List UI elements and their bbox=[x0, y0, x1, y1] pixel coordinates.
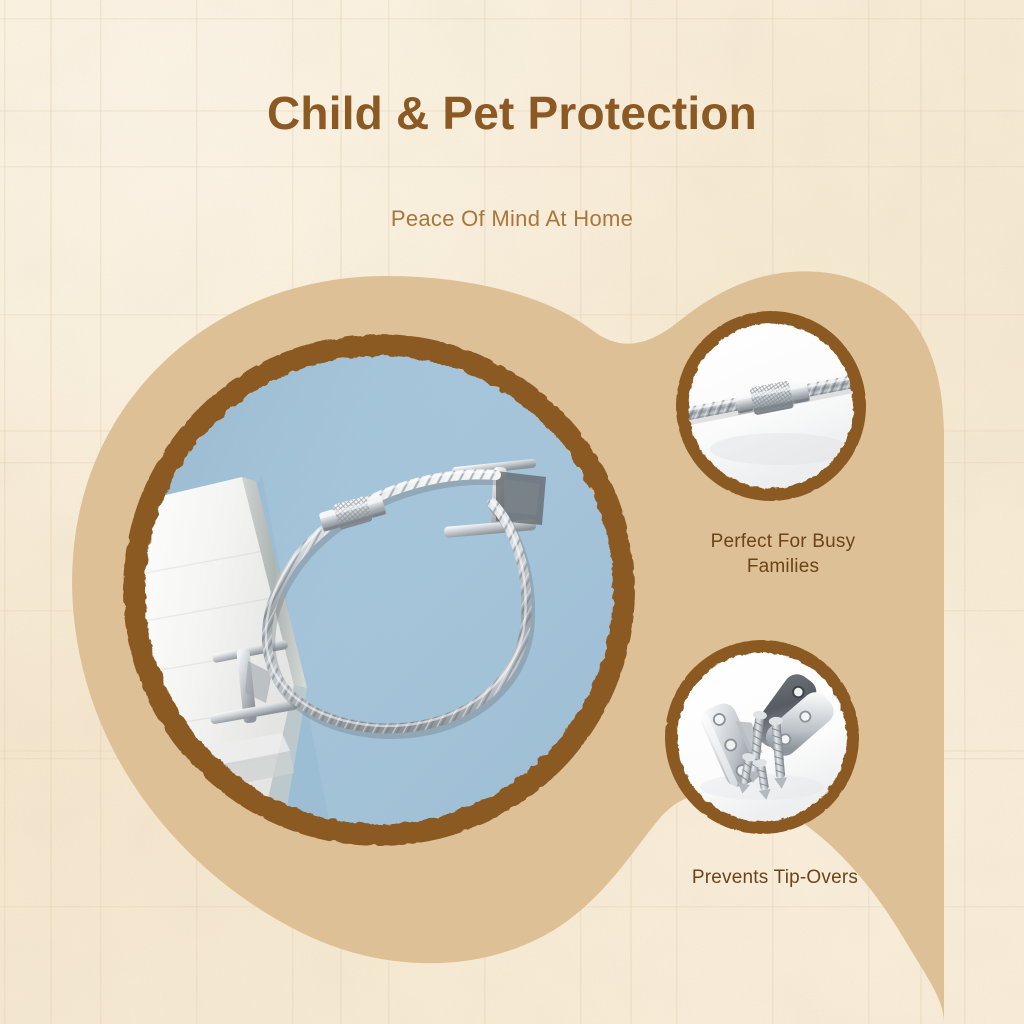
caption-line: Families bbox=[640, 554, 926, 579]
caption-line: Perfect For Busy bbox=[640, 529, 926, 554]
main-product-photo bbox=[144, 355, 614, 825]
cable-connector-photo bbox=[688, 323, 854, 489]
caption-prevents-tip-overs: Prevents Tip-Overs bbox=[625, 865, 925, 890]
mounting-hardware-photo bbox=[677, 652, 847, 822]
steel-cable-icon bbox=[688, 323, 854, 489]
caption-line: Prevents Tip-Overs bbox=[625, 865, 925, 890]
infographic-canvas: Perfect For Busy Families bbox=[0, 0, 1024, 1024]
anti-tip-install-illustration bbox=[144, 355, 614, 825]
page-subtitle: Peace Of Mind At Home bbox=[0, 206, 1024, 232]
page-title: Child & Pet Protection bbox=[0, 86, 1024, 140]
caption-perfect-for-busy-families: Perfect For Busy Families bbox=[640, 529, 926, 579]
l-bracket-icon bbox=[677, 652, 847, 822]
